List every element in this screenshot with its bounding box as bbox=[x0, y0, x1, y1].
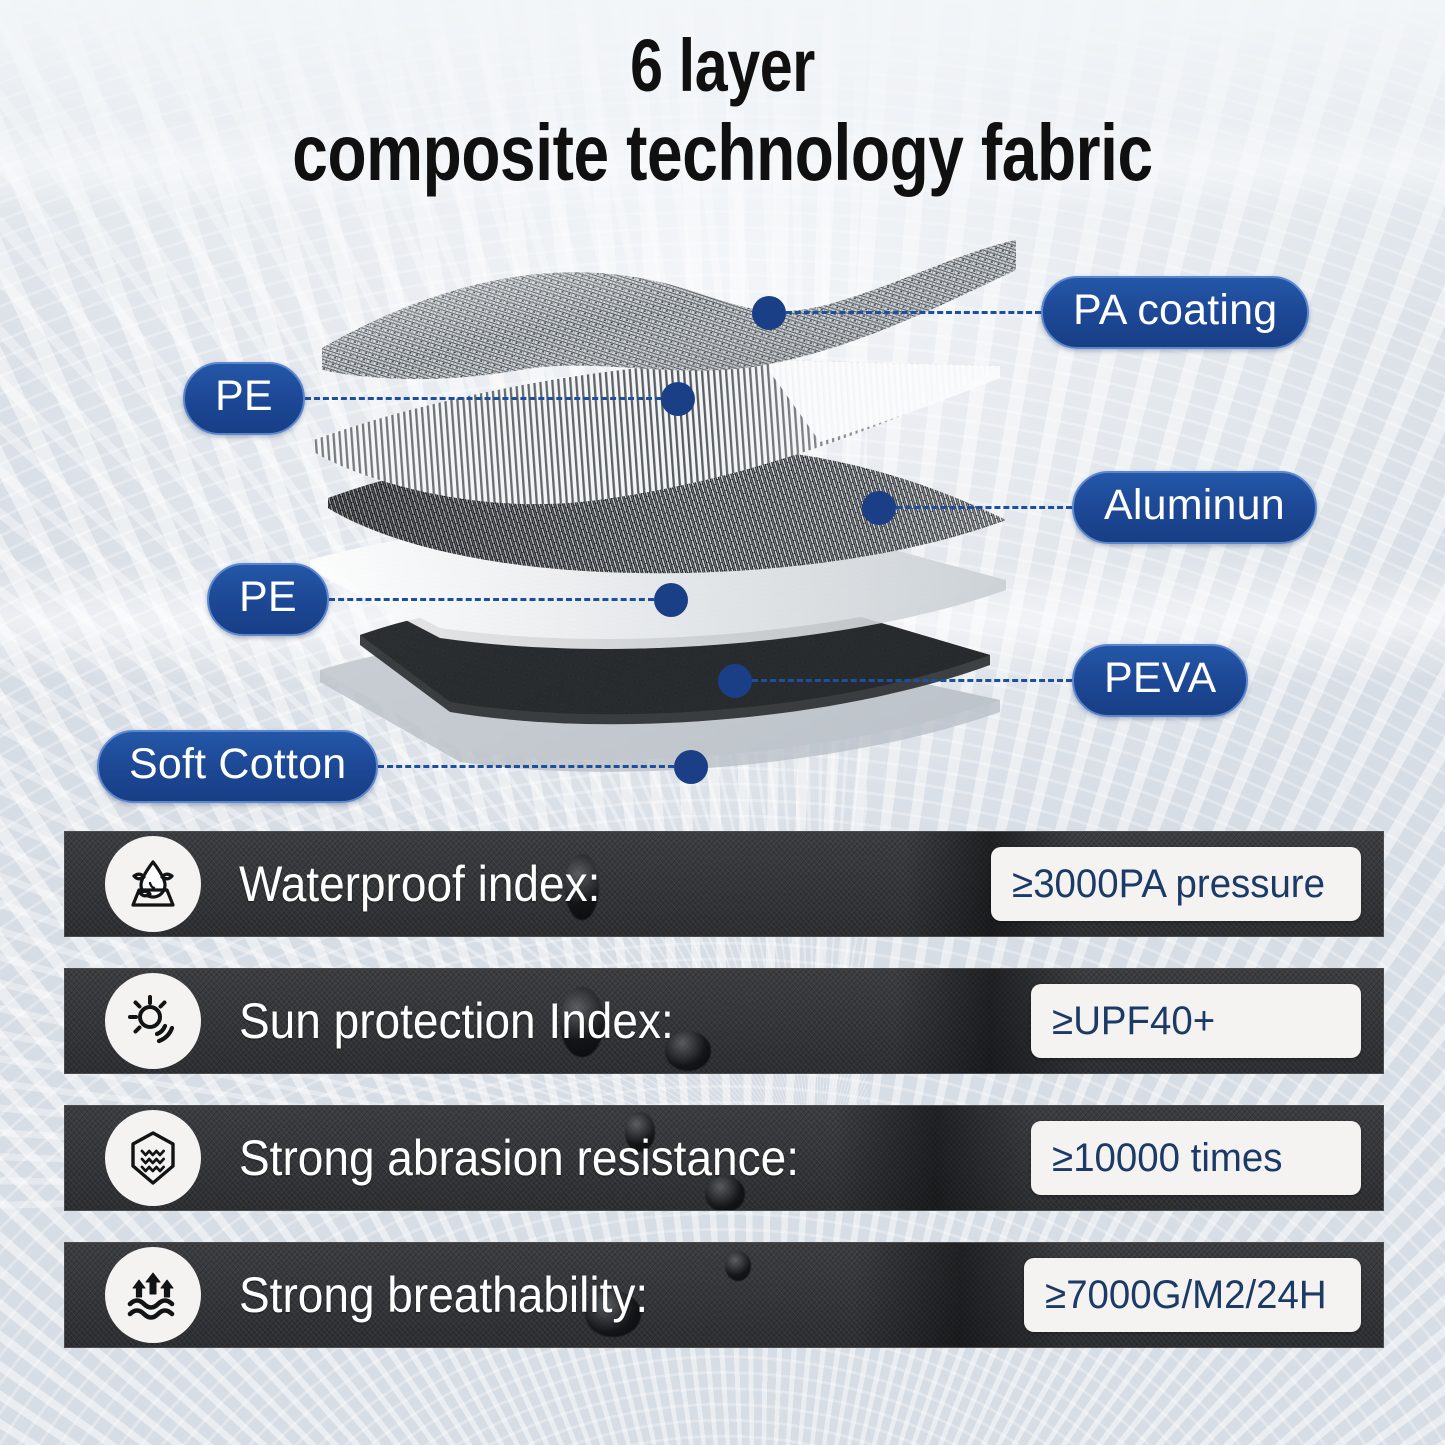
callout-peva: PEVA bbox=[718, 644, 1248, 717]
callout-label-pa-coating: PA coating bbox=[1041, 276, 1309, 349]
page-title-line-1: 6 layer bbox=[145, 26, 1301, 106]
sun-rays-icon bbox=[105, 973, 201, 1069]
callout-leader-line bbox=[786, 311, 1041, 314]
feature-value-abrasion-resistance: ≥10000 times bbox=[1031, 1138, 1304, 1178]
callout-soft-cotton: Soft Cotton bbox=[97, 730, 708, 803]
callout-dot-icon bbox=[654, 583, 688, 617]
callout-dot-icon bbox=[752, 296, 786, 330]
feature-value-box-waterproof: ≥3000PA pressure bbox=[991, 847, 1361, 921]
feature-bar-breathability[interactable]: Strong breathability: ≥7000G/M2/24H bbox=[64, 1242, 1384, 1348]
feature-value-box-sun-protection: ≥UPF40+ bbox=[1031, 984, 1361, 1058]
feature-bar-abrasion-resistance[interactable]: Strong abrasion resistance: ≥10000 times bbox=[64, 1105, 1384, 1211]
feature-label-sun-protection: Sun protection Index: bbox=[239, 996, 674, 1046]
feature-value-box-abrasion-resistance: ≥10000 times bbox=[1031, 1121, 1361, 1195]
callout-dot-icon bbox=[718, 664, 752, 698]
callout-leader-line bbox=[305, 397, 661, 400]
feature-label-breathability: Strong breathability: bbox=[239, 1270, 648, 1320]
feature-bar-list: Waterproof index: ≥3000PA pressure bbox=[64, 831, 1384, 1348]
callout-label-pe-bottom: PE bbox=[207, 563, 329, 636]
callout-label-aluminun: Aluminun bbox=[1072, 471, 1317, 544]
callout-pa-coating: PA coating bbox=[752, 276, 1309, 349]
feature-value-box-breathability: ≥7000G/M2/24H bbox=[1024, 1258, 1361, 1332]
callout-leader-line bbox=[752, 679, 1072, 682]
shield-waves-icon bbox=[105, 1110, 201, 1206]
page-title: 6 layer composite technology fabric bbox=[0, 26, 1445, 196]
callout-label-peva: PEVA bbox=[1072, 644, 1248, 717]
feature-value-breathability: ≥7000G/M2/24H bbox=[1024, 1275, 1348, 1315]
callout-dot-icon bbox=[674, 750, 708, 784]
callout-label-soft-cotton: Soft Cotton bbox=[97, 730, 378, 803]
bar-sheen bbox=[835, 1106, 1035, 1210]
callout-label-pe-top: PE bbox=[183, 362, 305, 435]
arrows-waves-icon bbox=[105, 1247, 201, 1343]
callout-dot-icon bbox=[661, 382, 695, 416]
callout-aluminun: Aluminun bbox=[862, 471, 1317, 544]
feature-bar-waterproof[interactable]: Waterproof index: ≥3000PA pressure bbox=[64, 831, 1384, 937]
feature-value-waterproof: ≥3000PA pressure bbox=[991, 864, 1346, 904]
callout-leader-line bbox=[378, 765, 674, 768]
callout-pe-bottom: PE bbox=[207, 563, 688, 636]
callout-leader-line bbox=[329, 598, 654, 601]
feature-value-sun-protection: ≥UPF40+ bbox=[1031, 1001, 1236, 1041]
callout-leader-line bbox=[896, 506, 1072, 509]
callout-pe-top: PE bbox=[183, 362, 695, 435]
feature-bar-sun-protection[interactable]: Sun protection Index: ≥UPF40+ bbox=[64, 968, 1384, 1074]
page-title-line-2: composite technology fabric bbox=[145, 110, 1301, 196]
waterproof-droplet-icon bbox=[105, 836, 201, 932]
water-bead bbox=[725, 1251, 751, 1281]
infographic-page: 6 layer composite technology fabric bbox=[0, 0, 1445, 1445]
feature-label-abrasion-resistance: Strong abrasion resistance: bbox=[239, 1133, 799, 1183]
feature-label-waterproof: Waterproof index: bbox=[239, 859, 600, 909]
callout-dot-icon bbox=[862, 491, 896, 525]
